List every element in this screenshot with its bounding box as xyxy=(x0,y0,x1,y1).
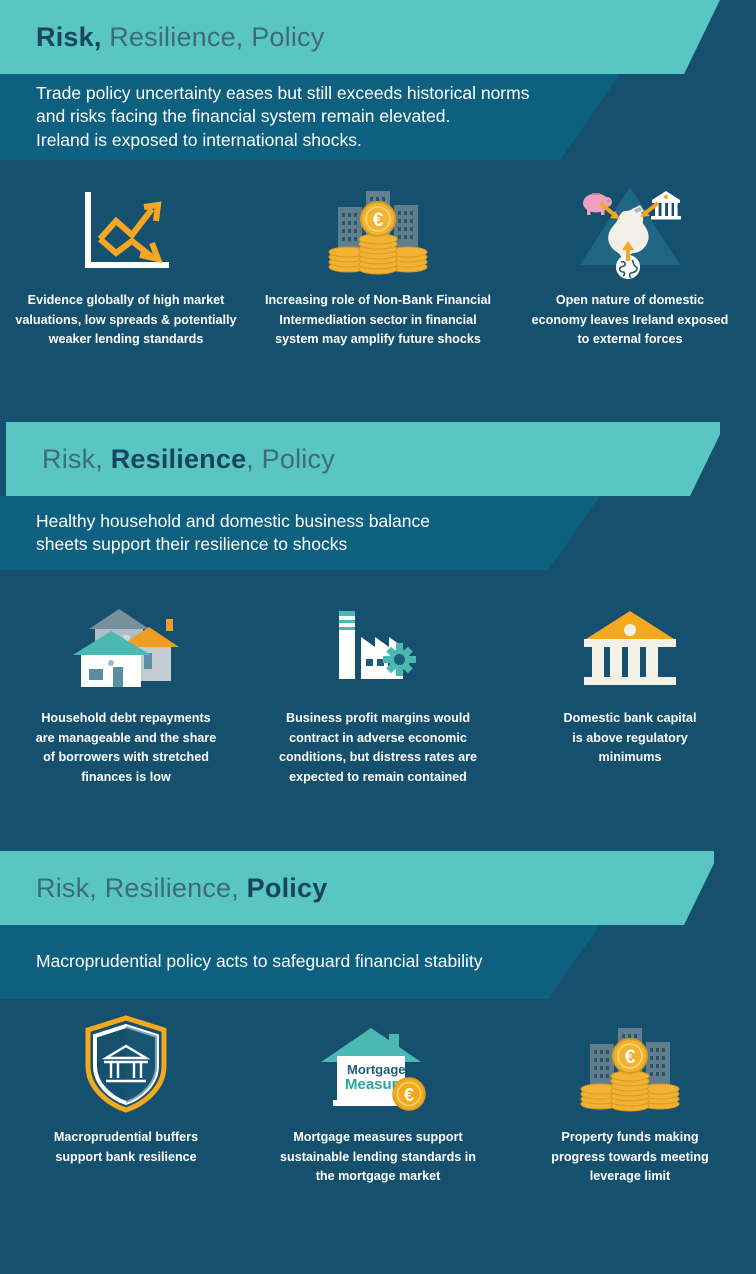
section-resilience: Risk, Resilience, Policy Healthy househo… xyxy=(0,422,756,845)
section-subtitle-band-policy: Macroprudential policy acts to safeguard… xyxy=(0,925,600,999)
section-banner-risk: Risk, Resilience, Policy xyxy=(0,0,720,74)
item-property-funds: € Property funds making progress towards… xyxy=(504,1009,756,1187)
item-market-valuations: Evidence globally of high market valuati… xyxy=(0,172,252,350)
infographic-page: Risk, Resilience, Policy Trade policy un… xyxy=(0,0,756,1274)
section-title-risk: Risk, Resilience, Policy xyxy=(36,22,324,53)
bank-building-icon xyxy=(580,590,680,695)
section-title-policy: Risk, Resilience, Policy xyxy=(36,873,327,904)
item-bank-capital: Domestic bank capital is above regulator… xyxy=(504,590,756,787)
section-banner-resilience: Risk, Resilience, Policy xyxy=(6,422,720,496)
title-part-regular: Resilience, Policy xyxy=(102,22,325,52)
item-household-debt: Household debt repayments are manageable… xyxy=(0,590,252,787)
buildings-coins-euro-icon: € xyxy=(576,1009,684,1114)
section-items-policy: Macroprudential buffers support bank res… xyxy=(0,1009,756,1187)
ireland-external-forces-icon xyxy=(570,172,690,277)
item-macroprudential-buffers: Macroprudential buffers support bank res… xyxy=(0,1009,252,1187)
item-caption: Evidence globally of high market valuati… xyxy=(1,291,250,350)
title-part-regular-2: , Policy xyxy=(246,444,335,474)
section-subtitle-band-resilience: Healthy household and domestic business … xyxy=(0,496,600,570)
item-business-margins: Business profit margins would contract i… xyxy=(252,590,504,787)
section-subtitle-risk: Trade policy uncertainty eases but still… xyxy=(36,82,529,152)
title-part-bold: Risk, xyxy=(36,22,102,52)
item-open-economy: Open nature of domestic economy leaves I… xyxy=(504,172,756,350)
section-risk: Risk, Resilience, Policy Trade policy un… xyxy=(0,0,756,422)
section-banner-policy: Risk, Resilience, Policy xyxy=(0,851,714,925)
section-subtitle-policy: Macroprudential policy acts to safeguard… xyxy=(36,950,482,973)
factory-gear-icon xyxy=(323,590,433,695)
section-subtitle-resilience: Healthy household and domestic business … xyxy=(36,510,430,557)
buildings-coins-euro-icon: € xyxy=(324,172,432,277)
item-nbfi: € Increasing role of Non-Bank Financial … xyxy=(252,172,504,350)
section-subtitle-band-risk: Trade policy uncertainty eases but still… xyxy=(0,74,620,160)
section-items-risk: Evidence globally of high market valuati… xyxy=(0,172,756,350)
item-caption: Property funds making progress towards m… xyxy=(537,1128,722,1187)
section-title-resilience: Risk, Resilience, Policy xyxy=(42,444,335,475)
house-label-line1: Mortgage xyxy=(347,1062,406,1077)
svg-text:€: € xyxy=(373,210,384,231)
item-mortgage-measures: Mortgage Measures € Mortgage measures su… xyxy=(252,1009,504,1187)
svg-text:€: € xyxy=(404,1085,414,1105)
item-caption: Open nature of domestic economy leaves I… xyxy=(518,291,743,350)
mortgage-measures-house-icon: Mortgage Measures € xyxy=(323,1009,433,1114)
zigzag-chart-icon xyxy=(78,172,174,277)
item-caption: Domestic bank capital is above regulator… xyxy=(550,709,711,768)
shield-bank-icon xyxy=(78,1009,174,1114)
svg-text:€: € xyxy=(625,1047,636,1068)
item-caption: Increasing role of Non-Bank Financial In… xyxy=(259,291,497,350)
item-caption: Macroprudential buffers support bank res… xyxy=(40,1128,212,1167)
title-part-bold: Resilience xyxy=(111,444,247,474)
title-part-bold: Policy xyxy=(247,873,328,903)
three-houses-icon xyxy=(71,590,181,695)
title-part-regular: Risk, Resilience, xyxy=(36,873,247,903)
section-policy: Risk, Resilience, Policy Macroprudential… xyxy=(0,851,756,1274)
item-caption: Household debt repayments are manageable… xyxy=(22,709,231,787)
section-items-resilience: Household debt repayments are manageable… xyxy=(0,590,756,787)
item-caption: Mortgage measures support sustainable le… xyxy=(274,1128,482,1187)
title-part-regular: Risk, xyxy=(42,444,111,474)
item-caption: Business profit margins would contract i… xyxy=(273,709,483,787)
